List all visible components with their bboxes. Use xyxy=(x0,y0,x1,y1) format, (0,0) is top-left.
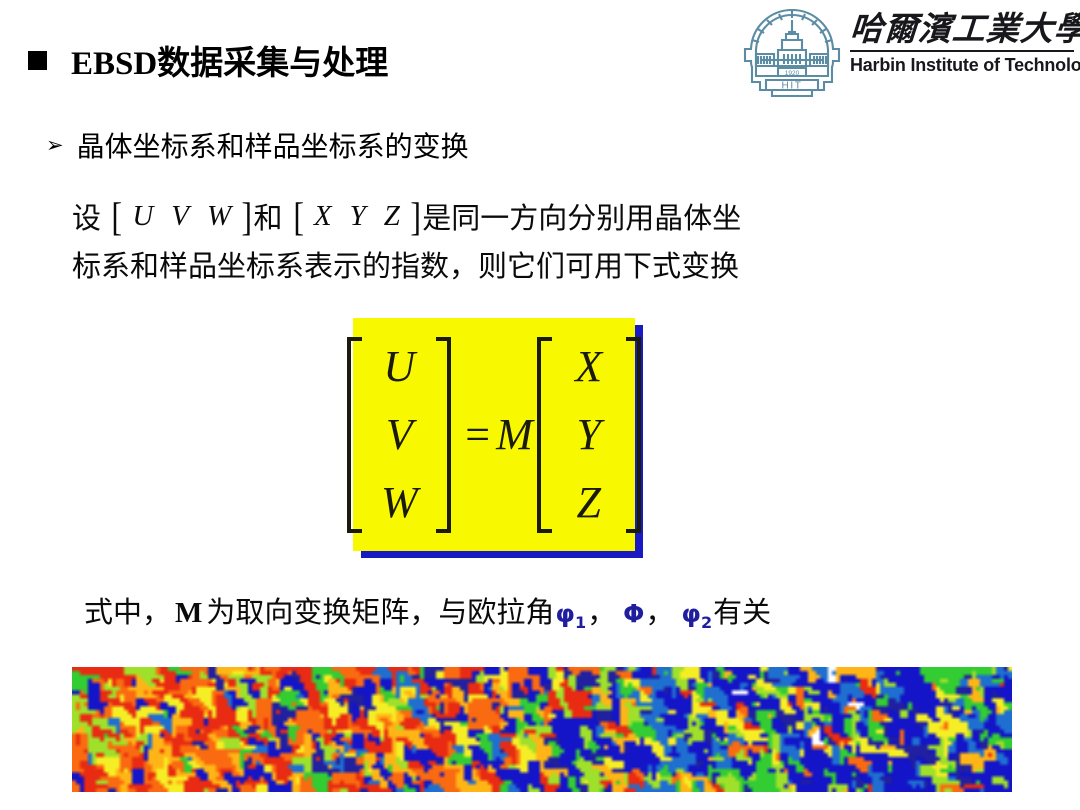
emblem-abbr-text: HIT xyxy=(782,81,803,92)
body-line-2: 标系和样品坐标系表示的指数，则它们可用下式变换 xyxy=(72,243,1002,292)
equation-operator: =M xyxy=(451,409,536,460)
vector-sample-y: Y xyxy=(341,192,375,241)
bracket-close-icon xyxy=(436,337,451,533)
closing-line: 式中，M 为取向变换矩阵，与欧拉角 φ1，Φ，φ2 有关 xyxy=(84,589,771,632)
body-line1-suffix: 是同一方向分别用晶体坐 xyxy=(422,203,741,235)
slide-canvas: 1920 HIT 哈爾濱工業大學 Harbin Institute of Tec… xyxy=(0,0,1080,810)
square-bullet-icon xyxy=(28,51,47,70)
equation-left-w: W xyxy=(381,481,418,525)
body-line1-prefix: 设 xyxy=(72,203,101,235)
vector-crystal-u: U xyxy=(123,192,162,241)
page-title: EBSD数据采集与处理 xyxy=(28,36,388,84)
ebsd-orientation-map xyxy=(72,667,1012,792)
equation-left-components: U V W xyxy=(362,337,436,533)
logo-name-en: Harbin Institute of Technology xyxy=(850,54,1069,76)
bracket-open: [ xyxy=(293,201,304,232)
body-line-1: 设[UVW]和[XYZ]是同一方向分别用晶体坐 xyxy=(72,192,1002,243)
equation-box: U V W =M X Y Z xyxy=(353,318,635,551)
vector-crystal-v: V xyxy=(162,192,198,241)
logo-wordmark: 哈爾濱工業大學 Harbin Institute of Technology xyxy=(850,12,1076,76)
vector-sample-z: Z xyxy=(375,192,409,241)
institution-logo: 1920 HIT 哈爾濱工業大學 Harbin Institute of Tec… xyxy=(740,4,1076,104)
page-title-text: EBSD数据采集与处理 xyxy=(71,36,388,84)
equation-right-z: Z xyxy=(577,481,601,525)
equation-right-x: X xyxy=(575,345,602,389)
euler-angle-phi2: φ2 xyxy=(680,599,713,632)
ebsd-map-canvas xyxy=(72,667,1012,792)
bracket-open-icon xyxy=(537,337,552,533)
closing-separator-2: ， xyxy=(645,589,680,631)
euler-phi2-glyph: φ xyxy=(681,599,701,628)
equation-right-vector: X Y Z xyxy=(537,337,641,533)
equation-left-vector: U V W xyxy=(347,337,451,533)
closing-separator-1: ， xyxy=(587,589,622,631)
body-line1-conj: 和 xyxy=(254,203,283,235)
vector-sample-x: X xyxy=(305,192,341,241)
logo-divider xyxy=(850,50,1074,52)
equals-sign: = xyxy=(465,410,496,459)
closing-part3: 有关 xyxy=(713,589,771,631)
section-subtitle-text: 晶体坐标系和样品坐标系的变换 xyxy=(77,125,469,165)
matrix-symbol-m: M xyxy=(496,410,533,459)
body-paragraph: 设[UVW]和[XYZ]是同一方向分别用晶体坐 标系和样品坐标系表示的指数，则它… xyxy=(72,192,1002,292)
vector-crystal: [UVW] xyxy=(110,192,254,241)
euler-phi2-subscript: 2 xyxy=(701,613,712,632)
arrow-bullet-icon: ➢ xyxy=(46,135,64,156)
bracket-close-icon xyxy=(626,337,641,533)
vector-crystal-w: W xyxy=(198,192,240,241)
closing-part1: 式中， xyxy=(84,589,171,631)
equation-right-y: Y xyxy=(577,413,601,457)
euler-angle-PHI: Φ xyxy=(622,599,645,628)
equation-left-v: V xyxy=(386,413,413,457)
bracket-open: [ xyxy=(111,201,122,232)
euler-phi1-subscript: 1 xyxy=(575,613,586,632)
closing-matrix-symbol: M xyxy=(171,597,206,630)
equation-right-components: X Y Z xyxy=(552,337,626,533)
bracket-open-icon xyxy=(347,337,362,533)
section-subtitle: ➢ 晶体坐标系和样品坐标系的变换 xyxy=(46,125,469,165)
closing-part2: 为取向变换矩阵，与欧拉角 xyxy=(206,589,554,631)
logo-name-cn: 哈爾濱工業大學 xyxy=(849,12,1078,49)
euler-angle-phi1: φ1 xyxy=(554,599,587,632)
vector-sample: [XYZ] xyxy=(292,192,423,241)
emblem-year-text: 1920 xyxy=(785,70,800,77)
bracket-close: ] xyxy=(410,201,421,232)
bracket-close: ] xyxy=(242,201,253,232)
equation-left-u: U xyxy=(383,345,415,389)
euler-phi1-glyph: φ xyxy=(555,599,575,628)
equation-content: U V W =M X Y Z xyxy=(347,337,640,533)
hit-gear-emblem-icon: 1920 HIT xyxy=(740,6,844,102)
